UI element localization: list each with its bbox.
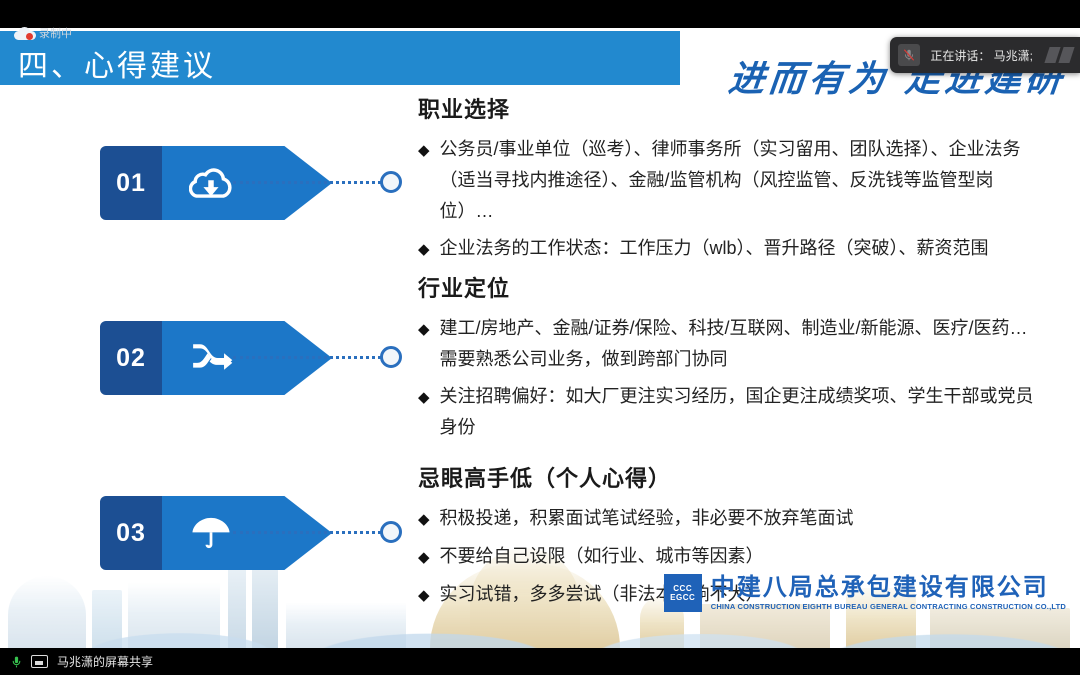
- step-number-02: 02: [100, 321, 162, 395]
- drag-grip-icon[interactable]: [1047, 47, 1072, 63]
- diamond-bullet-icon: ◆: [418, 314, 430, 345]
- step-endpoint-dot-02: [380, 346, 402, 368]
- step-endpoint-dot-03: [380, 521, 402, 543]
- recording-label: 录制中: [39, 25, 72, 41]
- bullet-text: 不要给自己设限（如行业、城市等因素）: [440, 541, 1043, 572]
- diamond-bullet-icon: ◆: [418, 234, 430, 265]
- umbrella-icon: [188, 512, 234, 554]
- bullet-text: 积极投递，积累面试笔试经验，非必要不放弃笔面试: [440, 503, 1043, 534]
- bullet-text: 企业法务的工作状态：工作压力（wlb）、晋升路径（突破）、薪资范围: [440, 233, 1043, 264]
- shuffle-arrows-icon: [188, 337, 234, 379]
- presentation-slide: 四、心得建议 进而有为 走进建研 01 02 03: [0, 28, 1080, 648]
- screen-share-status-label: 马兆潇的屏幕共享: [57, 653, 153, 670]
- bullet-item: ◆ 积极投递，积累面试笔试经验，非必要不放弃笔面试: [418, 503, 1043, 535]
- mic-on-icon[interactable]: [10, 654, 23, 670]
- logo-text: 中建八局总承包建设有限公司 CHINA CONSTRUCTION EIGHTH …: [711, 575, 1066, 611]
- step-connector-03: [233, 531, 381, 534]
- active-speaker-label: 正在讲话： 马兆潇;: [930, 47, 1033, 64]
- diamond-bullet-icon: ◆: [418, 382, 430, 413]
- step-number-03: 03: [100, 496, 162, 570]
- section-heading: 忌眼高手低（个人心得）: [418, 461, 1043, 493]
- bullet-text: 公务员/事业单位（巡考）、律师事务所（实习留用、团队选择）、企业法务（适当寻找内…: [440, 134, 1043, 227]
- recording-indicator: 录制中: [14, 25, 72, 41]
- slide-content: 职业选择 ◆ 公务员/事业单位（巡考）、律师事务所（实习留用、团队选择）、企业法…: [418, 92, 1043, 617]
- step-connector-02: [233, 356, 381, 359]
- section-career-choice: 职业选择 ◆ 公务员/事业单位（巡考）、律师事务所（实习留用、团队选择）、企业法…: [418, 92, 1043, 265]
- active-speaker-overlay[interactable]: 正在讲话： 马兆潇;: [890, 37, 1080, 73]
- diamond-bullet-icon: ◆: [418, 504, 430, 535]
- page-title: 四、心得建议: [18, 41, 216, 85]
- step-connector-01: [233, 181, 381, 184]
- logo-mark-icon: CCC EGCC: [664, 574, 702, 612]
- section-heading: 职业选择: [418, 92, 1043, 124]
- diamond-bullet-icon: ◆: [418, 542, 430, 573]
- step-endpoint-dot-01: [380, 171, 402, 193]
- bottom-status-bar: 马兆潇的屏幕共享: [0, 648, 1080, 675]
- mic-muted-icon[interactable]: [898, 44, 920, 66]
- screen-share-window: 四、心得建议 进而有为 走进建研 01 02 03: [0, 0, 1080, 675]
- bullet-item: ◆ 公务员/事业单位（巡考）、律师事务所（实习留用、团队选择）、企业法务（适当寻…: [418, 134, 1043, 227]
- section-industry-position: 行业定位 ◆ 建工/房地产、金融/证券/保险、科技/互联网、制造业/新能源、医疗…: [418, 271, 1043, 443]
- top-chrome-bar: [0, 0, 1080, 28]
- bullet-item: ◆ 企业法务的工作状态：工作压力（wlb）、晋升路径（突破）、薪资范围: [418, 233, 1043, 265]
- screen-share-icon[interactable]: [31, 655, 48, 668]
- bullet-text: 关注招聘偏好：如大厂更注实习经历，国企更注成绩奖项、学生干部或党员身份: [440, 381, 1043, 443]
- company-logo: CCC EGCC 中建八局总承包建设有限公司 CHINA CONSTRUCTIO…: [664, 574, 1066, 612]
- logo-mark-bottom: EGCC: [670, 593, 695, 602]
- logo-mark-top: CCC: [673, 584, 692, 593]
- diamond-bullet-icon: ◆: [418, 135, 430, 166]
- bullet-item: ◆ 关注招聘偏好：如大厂更注实习经历，国企更注成绩奖项、学生干部或党员身份: [418, 381, 1043, 443]
- section-heading: 行业定位: [418, 271, 1043, 303]
- logo-name-en: CHINA CONSTRUCTION EIGHTH BUREAU GENERAL…: [711, 602, 1066, 611]
- logo-name-cn: 中建八局总承包建设有限公司: [711, 575, 1066, 601]
- bullet-text: 建工/房地产、金融/证券/保险、科技/互联网、制造业/新能源、医疗/医药… 需要…: [440, 313, 1043, 375]
- step-number-01: 01: [100, 146, 162, 220]
- cloud-record-icon: [14, 27, 36, 40]
- bullet-item: ◆ 建工/房地产、金融/证券/保险、科技/互联网、制造业/新能源、医疗/医药… …: [418, 313, 1043, 375]
- cloud-download-icon: [188, 162, 234, 204]
- bullet-item: ◆ 不要给自己设限（如行业、城市等因素）: [418, 541, 1043, 573]
- diamond-bullet-icon: ◆: [418, 580, 430, 611]
